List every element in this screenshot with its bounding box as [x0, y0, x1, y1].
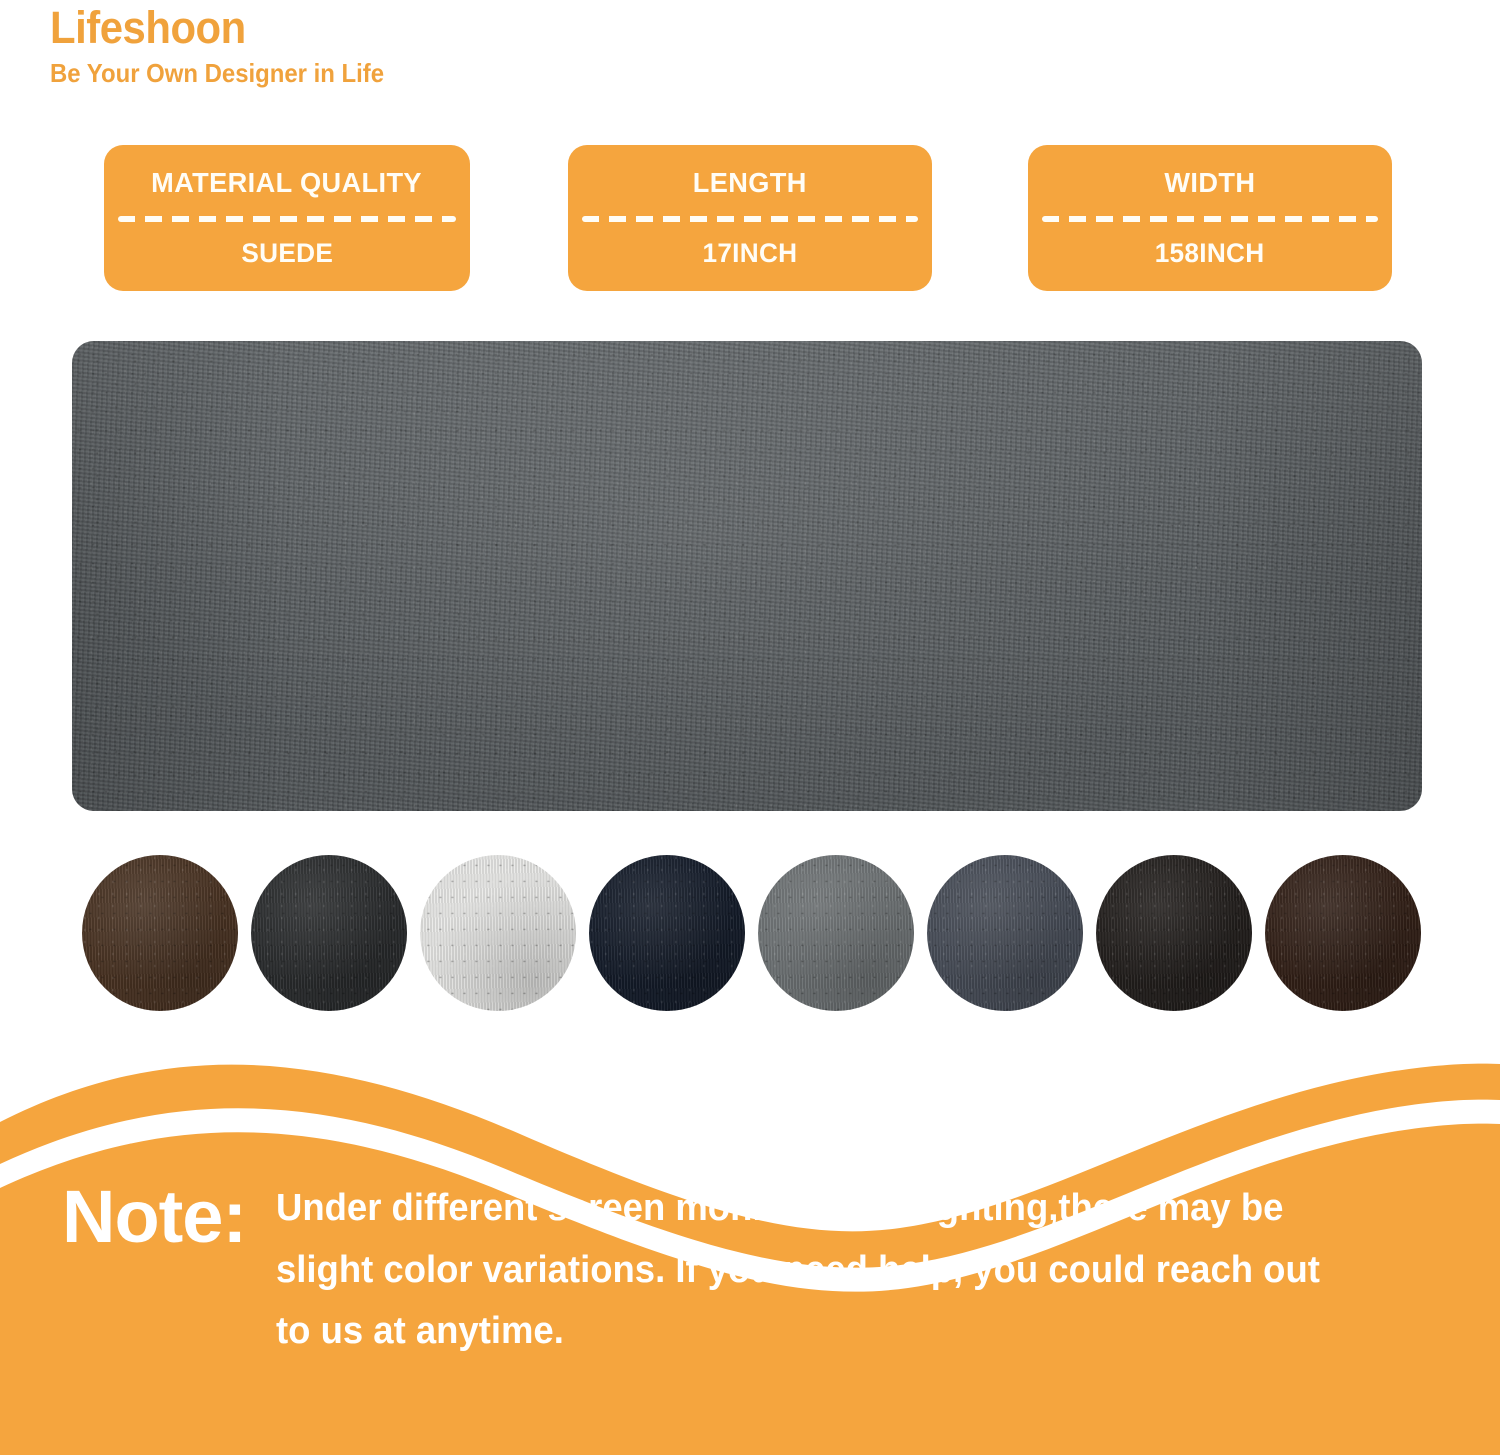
spec-label: LENGTH: [693, 167, 807, 199]
swatch-shading: [758, 855, 914, 1011]
swatch-shading: [1265, 855, 1421, 1011]
spec-badge-length: LENGTH 17INCH: [568, 145, 932, 291]
color-swatch-near-black[interactable]: [1096, 855, 1252, 1011]
color-swatch-slate-gray[interactable]: [927, 855, 1083, 1011]
rug-shading: [72, 341, 1422, 811]
spec-label: WIDTH: [1165, 167, 1256, 199]
swatch-shading: [251, 855, 407, 1011]
color-swatch-cream-white[interactable]: [420, 855, 576, 1011]
color-swatch-charcoal[interactable]: [251, 855, 407, 1011]
spec-label: MATERIAL QUALITY: [152, 167, 423, 199]
spec-badge-material-quality: MATERIAL QUALITY SUEDE: [104, 145, 470, 291]
color-swatch-dark-brown[interactable]: [82, 855, 238, 1011]
spec-value: SUEDE: [241, 238, 333, 269]
color-swatch-row: [82, 855, 1422, 1011]
color-swatch-navy[interactable]: [589, 855, 745, 1011]
swatch-shading: [420, 855, 576, 1011]
swatch-shading: [927, 855, 1083, 1011]
swatch-shading: [82, 855, 238, 1011]
note-label: Note:: [62, 1180, 246, 1254]
brand-name: Lifeshoon: [50, 4, 701, 53]
note-content: Note: Under different screen monitors an…: [0, 1178, 1500, 1363]
product-image-suede-runner-rug: [72, 341, 1422, 811]
spec-value: 158INCH: [1155, 238, 1265, 269]
color-swatch-coffee[interactable]: [1265, 855, 1421, 1011]
color-swatch-gray[interactable]: [758, 855, 914, 1011]
brand-tagline: Be Your Own Designer in Life: [50, 59, 694, 88]
dashed-divider: [118, 216, 456, 222]
dashed-divider: [1042, 216, 1378, 222]
note-footer: Note: Under different screen monitors an…: [0, 1060, 1500, 1455]
swatch-shading: [589, 855, 745, 1011]
note-text: Under different screen monitors and ligh…: [276, 1178, 1346, 1363]
brand-header: Lifeshoon Be Your Own Designer in Life: [50, 4, 750, 87]
spec-badge-width: WIDTH 158INCH: [1028, 145, 1392, 291]
spec-badge-row: MATERIAL QUALITY SUEDE LENGTH 17INCH WID…: [0, 145, 1500, 295]
spec-value: 17INCH: [703, 238, 798, 269]
dashed-divider: [582, 216, 918, 222]
swatch-shading: [1096, 855, 1252, 1011]
